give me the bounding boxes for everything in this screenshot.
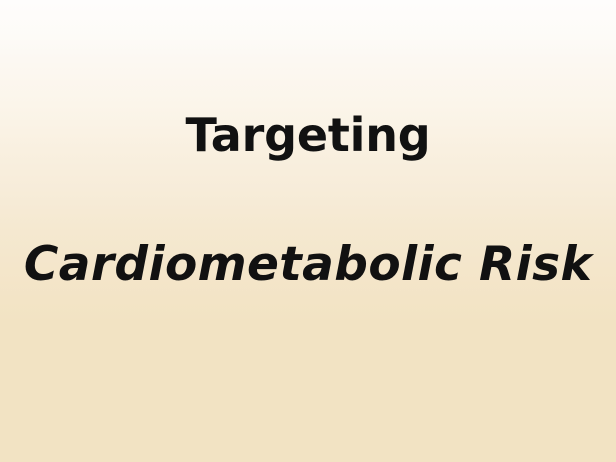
title-block: Targeting Cardiometabolic Risk: [0, 0, 616, 462]
title-line-secondary: Cardiometabolic Risk: [0, 241, 616, 288]
title-line-primary: Targeting: [0, 112, 616, 158]
title-slide: Targeting Cardiometabolic Risk: [0, 0, 616, 462]
